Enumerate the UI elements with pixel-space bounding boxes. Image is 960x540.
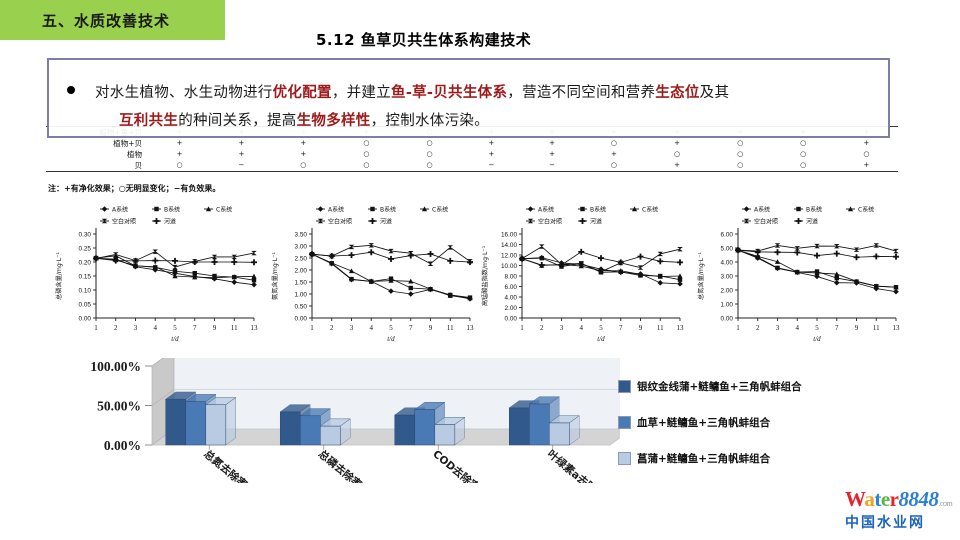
svg-text:2.50: 2.50 xyxy=(295,256,308,263)
table-cell: ○ xyxy=(772,149,835,160)
svg-text:0.00%: 0.00% xyxy=(104,438,141,453)
bullet-dot-icon xyxy=(67,86,75,94)
table-cell: ○ xyxy=(148,160,211,172)
svg-text:16.00: 16.00 xyxy=(501,232,517,239)
table-cell: + xyxy=(582,149,645,160)
bullet-plain-text: 及其 xyxy=(700,85,730,101)
svg-text:A系统: A系统 xyxy=(754,206,770,214)
legend-swatch-icon xyxy=(618,416,631,429)
svg-text:4: 4 xyxy=(796,324,800,332)
svg-text:2: 2 xyxy=(540,324,544,332)
svg-text:C系统: C系统 xyxy=(432,206,448,214)
watermark-subtitle: 中国水业网 xyxy=(845,515,955,532)
svg-text:0.10: 0.10 xyxy=(79,288,92,295)
table-cell: + xyxy=(522,138,583,149)
table-cell: + xyxy=(835,138,898,149)
table-cell: ○ xyxy=(272,160,335,172)
svg-text:0.00: 0.00 xyxy=(721,316,734,323)
table-cell: ○ xyxy=(835,149,898,160)
bullet-plain-text: ，并建立 xyxy=(332,85,391,101)
svg-text:6.00: 6.00 xyxy=(721,232,734,239)
bar-legend-item: 菖蒲+鲢鳙鱼+三角帆蚌组合 xyxy=(618,451,770,466)
svg-text:0.15: 0.15 xyxy=(79,274,92,281)
table-cell: + xyxy=(645,138,708,149)
bullet-highlight-text: 互利共生 xyxy=(119,113,178,129)
bar-legend-item: 银纹金线蒲+鲢鳙鱼+三角帆蚌组合 xyxy=(618,379,802,394)
table-cell: − xyxy=(461,160,522,172)
svg-text:1: 1 xyxy=(736,324,740,332)
svg-text:50.00%: 50.00% xyxy=(97,399,141,414)
svg-text:11: 11 xyxy=(657,324,664,332)
svg-text:12.00: 12.00 xyxy=(501,253,517,260)
table-cell: ○ xyxy=(335,138,398,149)
table-cell: ○ xyxy=(645,149,708,160)
svg-text:t/d: t/d xyxy=(597,335,605,343)
table-cell: + xyxy=(522,149,583,160)
svg-text:河道: 河道 xyxy=(380,218,392,226)
svg-text:空白对照: 空白对照 xyxy=(328,218,352,226)
table-cell: + xyxy=(835,160,898,172)
table-cell: + xyxy=(148,138,211,149)
table-cell: ○ xyxy=(398,149,461,160)
svg-text:总磷去除率: 总磷去除率 xyxy=(316,447,365,483)
table-cell: + xyxy=(645,160,708,172)
watermark-letter: r xyxy=(890,487,899,511)
svg-text:11: 11 xyxy=(873,324,880,332)
svg-text:100.00%: 100.00% xyxy=(90,359,141,374)
line-chart-total-phosphorus: 0.000.050.100.150.200.250.3012345791113t… xyxy=(50,200,262,350)
svg-text:0.00: 0.00 xyxy=(295,316,308,323)
table-cell: ○ xyxy=(335,149,398,160)
table-cell: + xyxy=(211,138,272,149)
svg-text:3: 3 xyxy=(134,324,138,332)
svg-text:3: 3 xyxy=(560,324,564,332)
svg-text:8.00: 8.00 xyxy=(505,274,518,281)
svg-text:7: 7 xyxy=(409,324,413,332)
bullet-line-1: 对水生植物、水生动物进行优化配置，并建立鱼-草-贝共生体系，营造不同空间和营养生… xyxy=(95,81,729,102)
svg-text:0.25: 0.25 xyxy=(79,246,92,253)
svg-text:高锰酸盐指数/mg·L⁻¹: 高锰酸盐指数/mg·L⁻¹ xyxy=(481,245,489,306)
bullet-highlight-text: 优化配置 xyxy=(273,85,332,101)
bullet-highlight-text: 生物多样性 xyxy=(297,113,371,129)
svg-text:3.00: 3.00 xyxy=(721,274,734,281)
svg-text:7: 7 xyxy=(835,324,839,332)
svg-text:C系统: C系统 xyxy=(216,206,232,214)
table-cell: ○ xyxy=(709,149,772,160)
svg-text:1: 1 xyxy=(94,324,98,332)
svg-text:5: 5 xyxy=(173,324,177,332)
svg-text:4.00: 4.00 xyxy=(721,260,734,267)
table-cell: + xyxy=(148,149,211,160)
svg-text:空白对照: 空白对照 xyxy=(538,218,562,226)
svg-text:4: 4 xyxy=(580,324,584,332)
watermark-wordmark: Water8848.com xyxy=(845,489,955,514)
svg-text:总氮去除率: 总氮去除率 xyxy=(201,447,250,483)
svg-text:总氮含量/mg·L⁻¹: 总氮含量/mg·L⁻¹ xyxy=(697,252,705,300)
svg-text:C系统: C系统 xyxy=(858,206,874,214)
table-cell: ○ xyxy=(772,138,835,149)
svg-text:3.00: 3.00 xyxy=(295,244,308,251)
bullet-plain-text: ，控制水体污染。 xyxy=(371,113,489,129)
bullet-plain-text: 对水生植物、水生动物进行 xyxy=(95,85,273,101)
watermark-letter: e xyxy=(881,487,890,511)
svg-text:C系统: C系统 xyxy=(642,206,658,214)
watermark-letter: W xyxy=(845,487,864,511)
svg-text:0.20: 0.20 xyxy=(79,260,92,267)
svg-text:B系统: B系统 xyxy=(590,206,606,214)
bullet-textbox: 对水生植物、水生动物进行优化配置，并建立鱼-草-贝共生体系，营造不同空间和营养生… xyxy=(47,58,890,138)
svg-text:10.00: 10.00 xyxy=(501,263,517,270)
svg-text:总磷含量/mg·L⁻¹: 总磷含量/mg·L⁻¹ xyxy=(55,252,63,300)
svg-text:13: 13 xyxy=(677,324,685,332)
svg-text:0.50: 0.50 xyxy=(295,304,308,311)
watermark-number: 8848 xyxy=(899,487,939,511)
svg-text:9: 9 xyxy=(639,324,643,332)
legend-swatch-icon xyxy=(618,380,631,393)
bar-legend-label: 银纹金线蒲+鲢鳙鱼+三角帆蚌组合 xyxy=(637,379,802,394)
svg-text:3: 3 xyxy=(350,324,354,332)
svg-text:11: 11 xyxy=(447,324,454,332)
watermark-letter: a xyxy=(864,487,874,511)
bullet-highlight-text: 鱼-草-贝共生体系 xyxy=(391,85,507,101)
legend-swatch-icon xyxy=(618,452,631,465)
table-row: 植物+++○○+++○○○○ xyxy=(46,149,898,160)
svg-text:叶绿素a去除率: 叶绿素a去除率 xyxy=(545,447,607,483)
svg-text:0.00: 0.00 xyxy=(79,316,92,323)
svg-text:2.00: 2.00 xyxy=(505,305,518,312)
line-chart-total-nitrogen: 0.001.002.003.004.005.006.0012345791113t… xyxy=(692,200,904,350)
bullet-plain-text: 的种间关系，提高 xyxy=(178,113,296,129)
svg-text:1: 1 xyxy=(520,324,524,332)
table-cell: ○ xyxy=(582,160,645,172)
svg-text:A系统: A系统 xyxy=(328,206,344,214)
table-row-label: 贝 xyxy=(46,160,148,172)
svg-text:7: 7 xyxy=(619,324,623,332)
svg-text:t/d: t/d xyxy=(387,335,395,343)
svg-text:t/d: t/d xyxy=(171,335,179,343)
svg-text:0.30: 0.30 xyxy=(79,232,92,239)
watermark-dotcom: .com xyxy=(939,499,953,508)
table-cell: ○ xyxy=(582,138,645,149)
svg-text:河道: 河道 xyxy=(164,218,176,226)
bar-legend-label: 菖蒲+鲢鳙鱼+三角帆蚌组合 xyxy=(637,451,770,466)
table-cell: ○ xyxy=(398,138,461,149)
svg-text:0.00: 0.00 xyxy=(505,316,518,323)
section-banner-label: 五、水质改善技术 xyxy=(42,10,170,31)
svg-text:1.00: 1.00 xyxy=(721,302,734,309)
table-cell: − xyxy=(522,160,583,172)
svg-text:11: 11 xyxy=(231,324,238,332)
svg-text:13: 13 xyxy=(251,324,259,332)
svg-text:14.00: 14.00 xyxy=(501,242,517,249)
svg-text:A系统: A系统 xyxy=(112,206,128,214)
svg-text:B系统: B系统 xyxy=(380,206,396,214)
table-row: 植物+贝+++○○++○+○○+ xyxy=(46,138,898,149)
svg-text:9: 9 xyxy=(213,324,217,332)
svg-text:A系统: A系统 xyxy=(538,206,554,214)
table-cell: ○ xyxy=(709,160,772,172)
bullet-line-2: 互利共生的种间关系，提高生物多样性，控制水体污染。 xyxy=(119,109,489,130)
svg-text:河道: 河道 xyxy=(806,218,818,226)
svg-text:2.00: 2.00 xyxy=(721,288,734,295)
svg-text:9: 9 xyxy=(855,324,859,332)
svg-text:空白对照: 空白对照 xyxy=(754,218,778,226)
table-cell: ○ xyxy=(398,160,461,172)
svg-text:6.00: 6.00 xyxy=(505,284,518,291)
watermark-logo: Water8848.com 中国水业网 xyxy=(845,489,955,534)
svg-text:4.00: 4.00 xyxy=(505,295,518,302)
table-cell: − xyxy=(211,160,272,172)
svg-text:3: 3 xyxy=(776,324,780,332)
table-row: 贝○−○○○−−○+○○+ xyxy=(46,160,898,172)
table-cell: + xyxy=(461,138,522,149)
page-title: 5.12 鱼草贝共生体系构建技术 xyxy=(316,29,531,50)
svg-text:13: 13 xyxy=(893,324,901,332)
svg-text:5: 5 xyxy=(815,324,819,332)
svg-text:5: 5 xyxy=(599,324,603,332)
slide-root: 五、水质改善技术 5.12 鱼草贝共生体系构建技术 植物+鱼+贝++++○+++… xyxy=(0,0,960,540)
svg-text:空白对照: 空白对照 xyxy=(112,218,136,226)
table-cell: + xyxy=(272,149,335,160)
table-row-label: 植物+贝 xyxy=(46,138,148,149)
line-chart-ammonia-nitrogen: 0.000.501.001.502.002.503.003.5012345791… xyxy=(266,200,478,350)
line-chart-permanganate-index: 0.002.004.006.008.0010.0012.0014.0016.00… xyxy=(476,200,688,350)
bar-legend-item: 血草+鲢鳙鱼+三角帆蚌组合 xyxy=(618,415,770,430)
removal-rate-bar-chart: 0.00%50.00%100.00%总氮去除率总磷去除率COD去除率叶绿素a去除… xyxy=(60,358,620,483)
svg-text:2: 2 xyxy=(756,324,760,332)
svg-text:4: 4 xyxy=(370,324,374,332)
table-cell: + xyxy=(272,138,335,149)
bullet-plain-text: ，营造不同空间和营养 xyxy=(507,85,655,101)
table-cell: ○ xyxy=(709,138,772,149)
table-cell: + xyxy=(211,149,272,160)
svg-text:5: 5 xyxy=(389,324,393,332)
svg-text:t/d: t/d xyxy=(813,335,821,343)
svg-text:4: 4 xyxy=(154,324,158,332)
bar-chart-legend: 银纹金线蒲+鲢鳙鱼+三角帆蚌组合血草+鲢鳙鱼+三角帆蚌组合菖蒲+鲢鳙鱼+三角帆蚌… xyxy=(618,375,948,480)
svg-text:B系统: B系统 xyxy=(806,206,822,214)
svg-text:1.00: 1.00 xyxy=(295,292,308,299)
table-cell: ○ xyxy=(335,160,398,172)
svg-text:氨氮含量/mg·L⁻¹: 氨氮含量/mg·L⁻¹ xyxy=(271,252,279,300)
svg-text:1: 1 xyxy=(310,324,314,332)
table-cell: + xyxy=(461,149,522,160)
table-cell: ○ xyxy=(772,160,835,172)
svg-text:河道: 河道 xyxy=(590,218,602,226)
table-row-label: 植物 xyxy=(46,149,148,160)
svg-text:13: 13 xyxy=(467,324,475,332)
svg-text:B系统: B系统 xyxy=(164,206,180,214)
svg-text:COD去除率: COD去除率 xyxy=(430,447,482,483)
svg-text:2.00: 2.00 xyxy=(295,268,308,275)
svg-text:1.50: 1.50 xyxy=(295,280,308,287)
svg-text:7: 7 xyxy=(193,324,197,332)
svg-text:3.50: 3.50 xyxy=(295,232,308,239)
svg-text:2: 2 xyxy=(330,324,334,332)
svg-text:9: 9 xyxy=(429,324,433,332)
line-charts-row: 0.000.050.100.150.200.250.3012345791113t… xyxy=(46,200,914,350)
bullet-highlight-text: 生态位 xyxy=(655,85,699,101)
svg-text:2: 2 xyxy=(114,324,118,332)
svg-text:0.05: 0.05 xyxy=(79,302,92,309)
svg-text:5.00: 5.00 xyxy=(721,246,734,253)
bar-legend-label: 血草+鲢鳙鱼+三角帆蚌组合 xyxy=(637,415,770,430)
